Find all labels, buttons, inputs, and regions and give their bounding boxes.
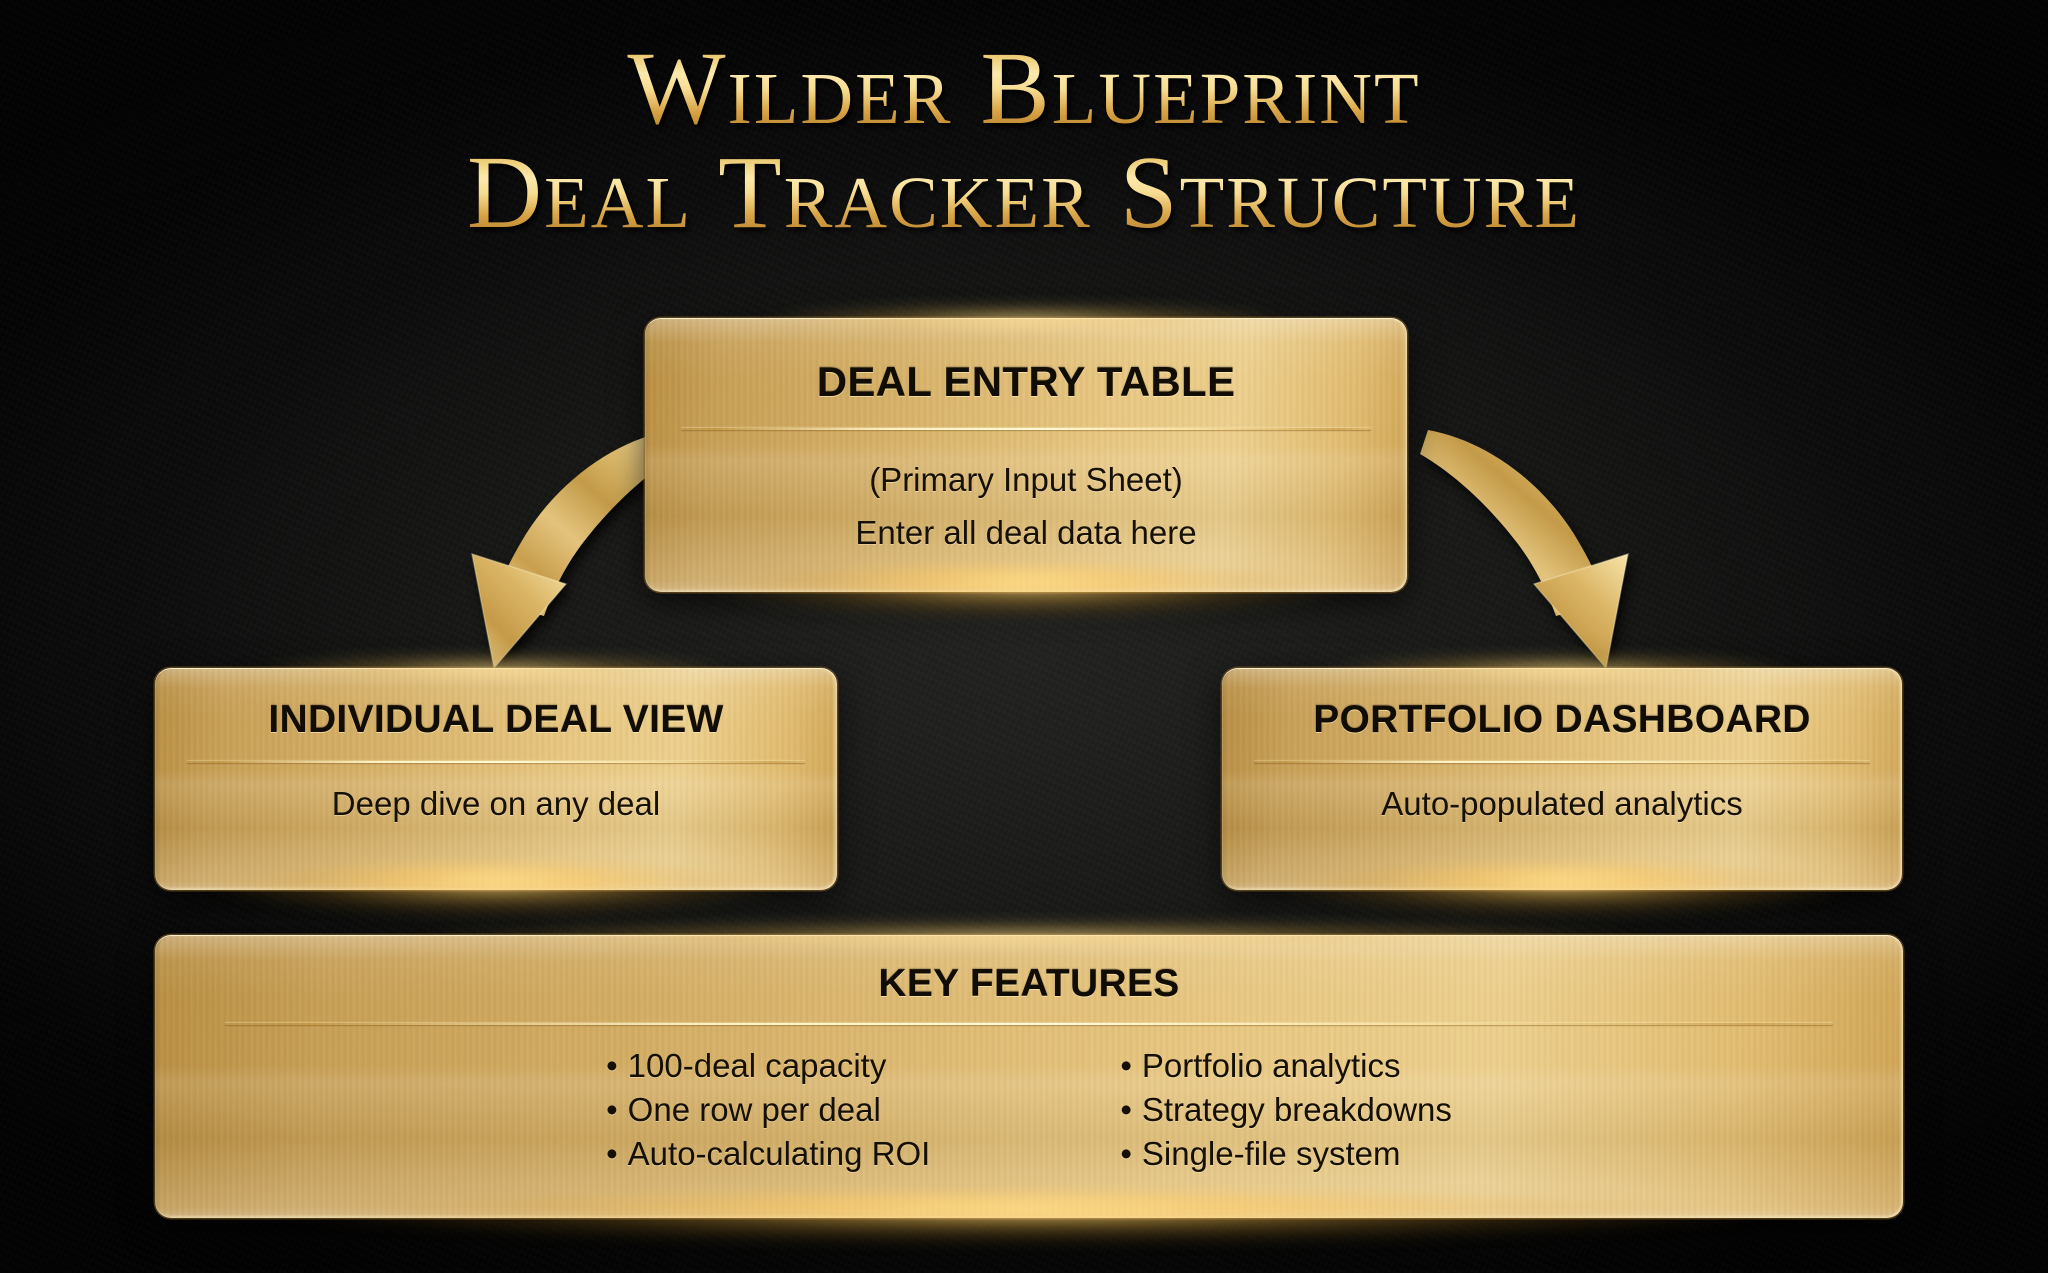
divider [225, 1023, 1833, 1025]
portfolio-dashboard-card[interactable]: PORTFOLIO DASHBOARD Auto-populated analy… [1222, 668, 1902, 890]
bullet-icon: • [1120, 1047, 1132, 1084]
key-features-columns: •100-deal capacity•One row per deal•Auto… [155, 1047, 1903, 1173]
key-feature-item: •100-deal capacity [606, 1047, 930, 1085]
bullet-icon: • [606, 1091, 618, 1128]
divider [187, 761, 805, 763]
divider [1254, 761, 1870, 763]
divider [681, 428, 1371, 430]
bullet-icon: • [606, 1135, 618, 1172]
key-feature-label: 100-deal capacity [628, 1047, 887, 1084]
key-feature-label: Strategy breakdowns [1142, 1091, 1452, 1128]
key-feature-item: •Auto-calculating ROI [606, 1135, 930, 1173]
infographic-canvas: Wilder Blueprint Deal Tracker Structure [0, 0, 2048, 1273]
title-line-2: Deal Tracker Structure [0, 138, 2048, 248]
bullet-icon: • [1120, 1135, 1132, 1172]
bullet-icon: • [1120, 1091, 1132, 1128]
card-bottom-glow [295, 1192, 1763, 1244]
key-feature-label: Auto-calculating ROI [628, 1135, 931, 1172]
deal-entry-table-title: DEAL ENTRY TABLE [645, 318, 1407, 406]
deal-entry-subtitle-line-1: (Primary Input Sheet) [645, 454, 1407, 507]
key-features-title: KEY FEATURES [155, 935, 1903, 1006]
key-features-card[interactable]: KEY FEATURES •100-deal capacity•One row … [155, 935, 1903, 1218]
deal-entry-table-card[interactable]: DEAL ENTRY TABLE (Primary Input Sheet) E… [645, 318, 1407, 592]
curved-arrow-right-icon [1400, 418, 1660, 680]
key-feature-item: •One row per deal [606, 1091, 930, 1129]
key-feature-item: •Portfolio analytics [1120, 1047, 1452, 1085]
card-bottom-glow [1276, 864, 1847, 916]
key-feature-item: •Strategy breakdowns [1120, 1091, 1452, 1129]
key-feature-item: •Single-file system [1120, 1135, 1452, 1173]
individual-deal-view-card[interactable]: INDIVIDUAL DEAL VIEW Deep dive on any de… [155, 668, 837, 890]
key-features-column-right: •Portfolio analytics•Strategy breakdowns… [1120, 1047, 1452, 1173]
card-bottom-glow [706, 566, 1346, 618]
key-feature-label: Portfolio analytics [1142, 1047, 1401, 1084]
individual-deal-view-title: INDIVIDUAL DEAL VIEW [155, 668, 837, 742]
key-feature-label: One row per deal [628, 1091, 881, 1128]
individual-deal-view-subtitle: Deep dive on any deal [155, 785, 837, 823]
portfolio-dashboard-subtitle: Auto-populated analytics [1222, 785, 1902, 823]
key-features-column-left: •100-deal capacity•One row per deal•Auto… [606, 1047, 930, 1173]
deal-entry-table-subtitle: (Primary Input Sheet) Enter all deal dat… [645, 454, 1407, 560]
portfolio-dashboard-title: PORTFOLIO DASHBOARD [1222, 668, 1902, 742]
deal-entry-subtitle-line-2: Enter all deal data here [645, 507, 1407, 560]
page-title: Wilder Blueprint Deal Tracker Structure [0, 34, 2048, 248]
card-bottom-glow [210, 864, 783, 916]
bullet-icon: • [606, 1047, 618, 1084]
title-line-1: Wilder Blueprint [0, 34, 2048, 144]
key-feature-label: Single-file system [1142, 1135, 1401, 1172]
